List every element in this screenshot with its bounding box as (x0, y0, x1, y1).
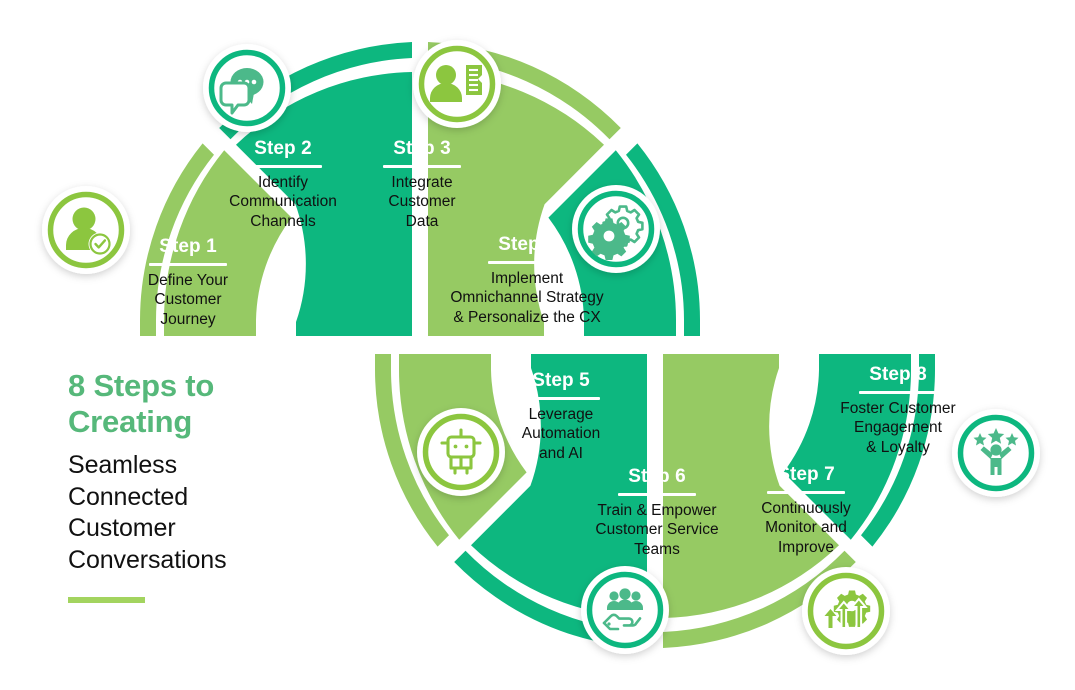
infographic-canvas: Step 1 Define Your Customer Journey Step… (0, 0, 1075, 690)
badge-step-5[interactable] (417, 408, 505, 496)
badge-step-2[interactable] (203, 44, 291, 132)
badge-step-7[interactable] (802, 567, 890, 655)
headline-block: 8 Steps to Creating Seamless Connected C… (68, 368, 368, 603)
headline-accent-bar (68, 597, 145, 603)
badge-step-8[interactable] (952, 409, 1040, 497)
headline-black: Seamless Connected Customer Conversation… (68, 450, 368, 577)
badge-step-3[interactable] (413, 40, 501, 128)
headline-green: 8 Steps to Creating (68, 368, 368, 440)
badge-step-6[interactable] (581, 566, 669, 654)
badge-step-1[interactable] (42, 186, 130, 274)
badge-step-4[interactable] (572, 185, 660, 273)
